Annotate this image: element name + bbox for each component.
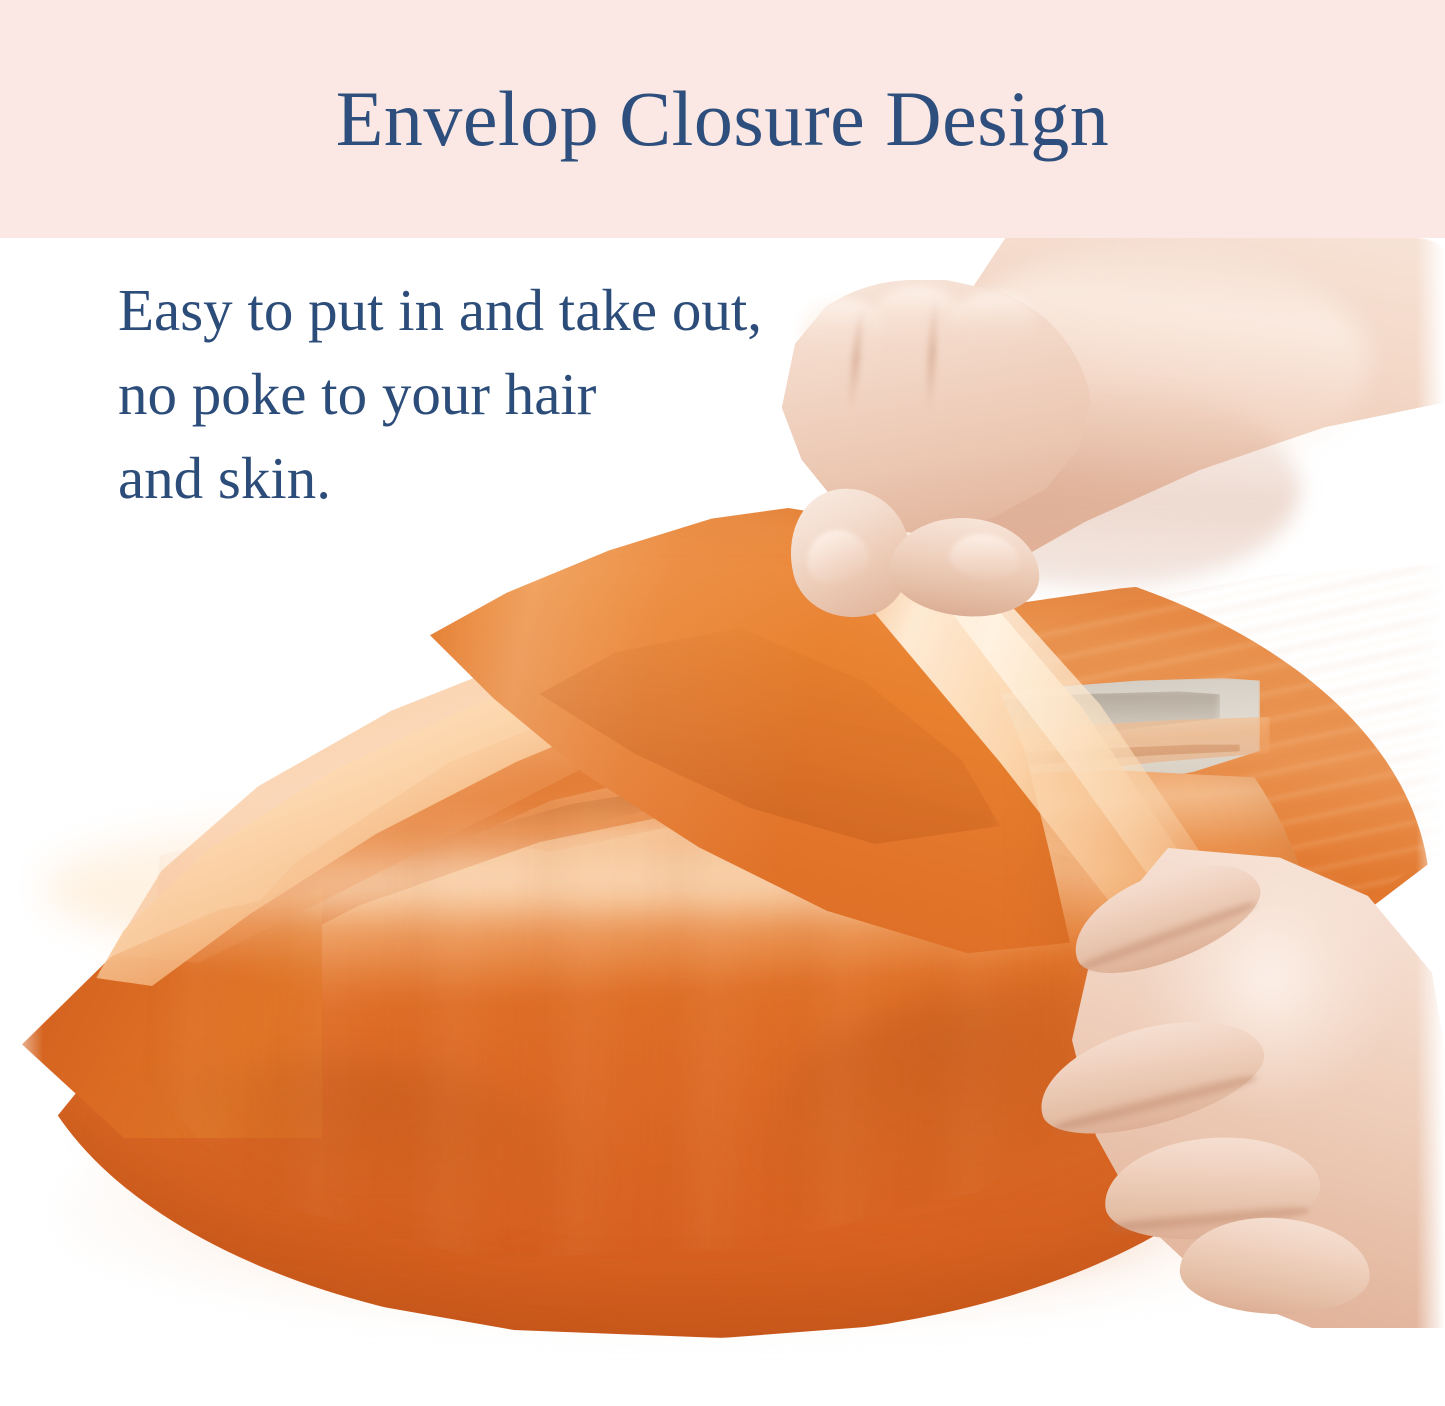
product-photo <box>0 238 1445 1406</box>
knuckle-3 <box>950 292 1038 350</box>
pillow-shade-bottom-left <box>40 1058 600 1338</box>
page-title: Envelop Closure Design <box>0 0 1445 238</box>
header-band: Envelop Closure Design <box>0 0 1445 238</box>
infographic-canvas: Envelop Closure Design <box>0 0 1445 1406</box>
